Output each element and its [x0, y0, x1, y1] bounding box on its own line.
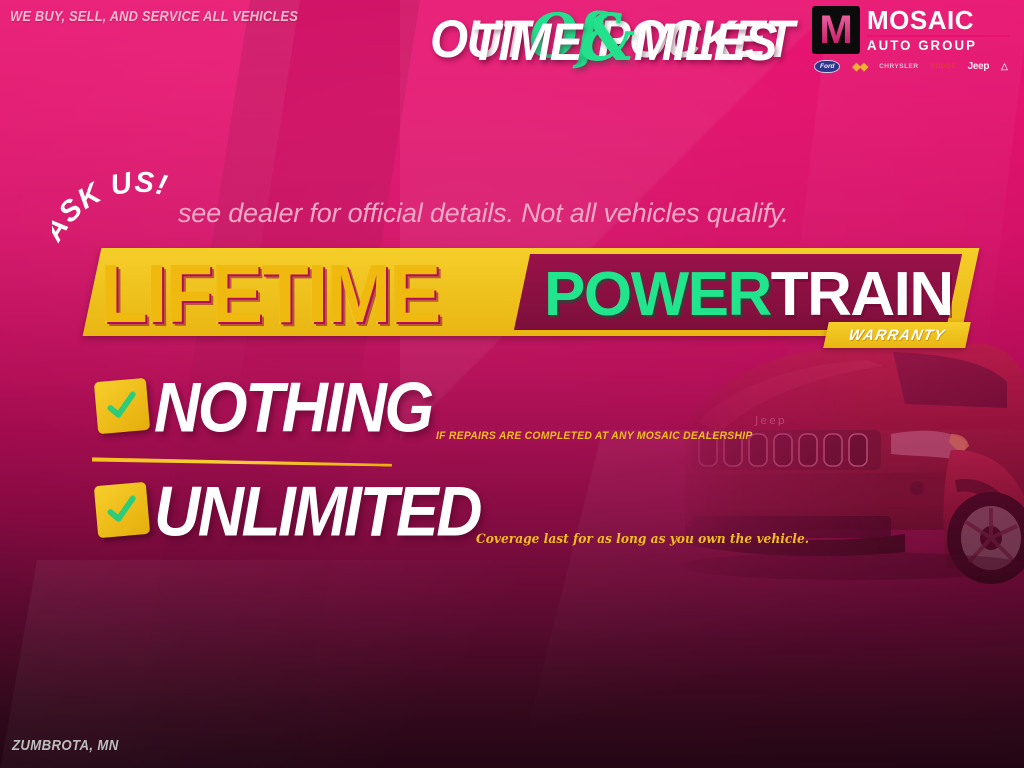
benefit-2-big-word: UNLIMITED: [154, 476, 480, 546]
checkbox-checked-icon-2: [94, 482, 150, 538]
dealer-logo[interactable]: M MOSAIC AUTO GROUP Ford ◆◆ CHRYSLER DOD…: [812, 6, 1010, 73]
ram-brand-icon: △: [1001, 61, 1008, 72]
chrysler-brand-icon: CHRYSLER: [879, 63, 919, 70]
ask-us-label: ASK US!: [52, 168, 171, 248]
logo-row: M MOSAIC AUTO GROUP: [812, 6, 1010, 54]
benefit-2-tail-pre: TIME: [470, 14, 581, 72]
logo-text-block: MOSAIC AUTO GROUP: [867, 8, 1010, 53]
chevrolet-brand-icon: ◆◆: [852, 60, 867, 73]
check-mark-icon-2: [104, 492, 141, 529]
warranty-badge: WARRANTY: [823, 322, 971, 348]
logo-divider: [867, 35, 1010, 37]
warranty-badge-label: WARRANTY: [823, 322, 971, 348]
benefit-2-tail-post: MILES: [634, 14, 776, 72]
disclaimer-tagline: see dealer for official details. Not all…: [178, 198, 789, 229]
ford-brand-icon: Ford: [814, 60, 840, 73]
checkbox-checked-icon-1: [94, 378, 150, 434]
dodge-brand-icon: DODGE: [930, 63, 955, 70]
jeep-brand-icon: Jeep: [968, 61, 990, 72]
mosaic-m-icon: M: [812, 6, 860, 54]
brand-logo-strip: Ford ◆◆ CHRYSLER DODGE Jeep △: [812, 60, 1010, 73]
benefit-2-ampersand-icon: &: [581, 1, 634, 77]
logo-subtitle: AUTO GROUP: [867, 39, 1007, 53]
logo-mark-letter: M: [819, 10, 852, 50]
top-strip-text: WE BUY, SELL, AND SERVICE ALL VEHICLES: [10, 8, 298, 25]
benefit-2-fine-print: Coverage last for as long as you own the…: [476, 532, 809, 547]
benefit-2-tail: TIME&MILES: [470, 6, 776, 71]
band-magenta-inset: [514, 254, 962, 330]
logo-name: MOSAIC: [867, 8, 1010, 33]
benefit-1-fine-print: IF REPAIRS ARE COMPLETED AT ANY MOSAIC D…: [436, 430, 753, 442]
promo-banner: Jeep: [0, 0, 1024, 768]
footer-location: ZUMBROTA, MN: [12, 737, 119, 754]
benefit-1-big-word: NOTHING: [154, 372, 432, 442]
check-mark-icon-1: [104, 388, 141, 425]
